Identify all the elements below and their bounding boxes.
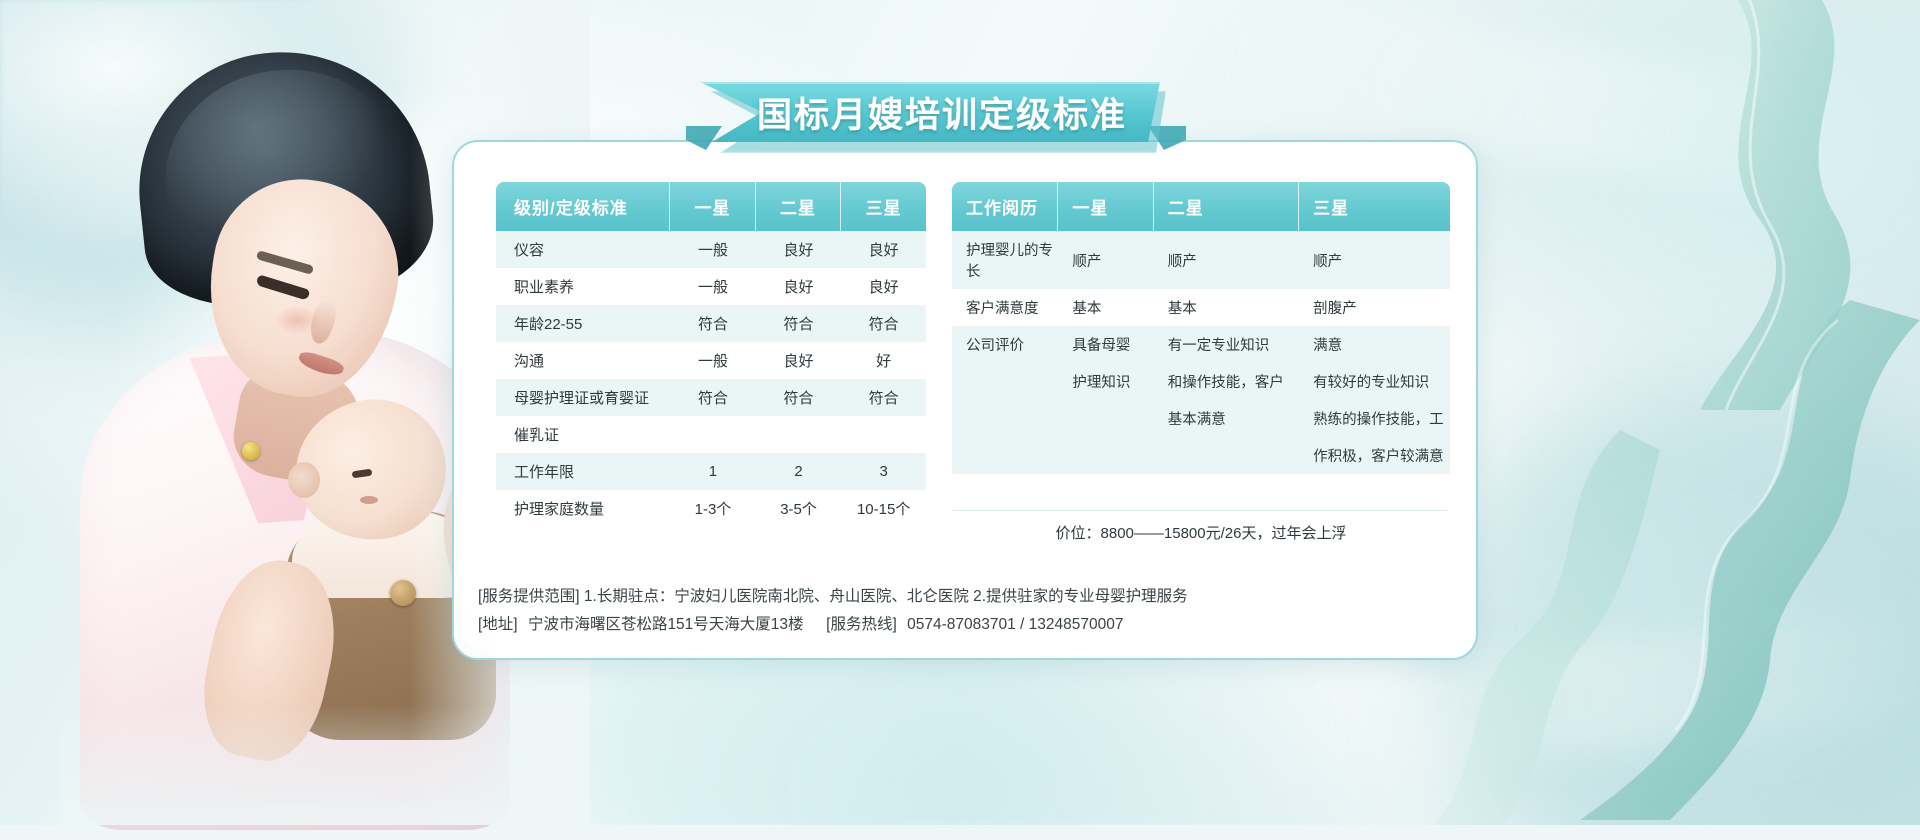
cell-three-star: 剖腹产 — [1299, 289, 1450, 326]
cell-two-star: 符合 — [756, 305, 842, 342]
address-value: 宁波市海曙区苍松路151号天海大厦13楼 — [528, 616, 804, 633]
table-header-row: 级别/定级标准 一星 二星 三星 — [496, 182, 926, 231]
row-label: 公司评价 — [952, 326, 1058, 363]
price-note: 价位：8800——15800元/26天，过年会上浮 — [952, 522, 1450, 543]
cell-three-star: 符合 — [841, 305, 926, 342]
photo-baby-ear — [288, 462, 320, 498]
cell-three-star: 满意 — [1299, 326, 1450, 363]
row-label-empty — [952, 400, 1058, 437]
cell-three-star: 10-15个 — [841, 490, 926, 527]
work-experience-table: 工作阅历 一星 二星 三星 护理婴儿的专长 顺产 顺产 顺产 客户满意度 基本 … — [952, 182, 1450, 474]
cell-one-star: 1-3个 — [670, 490, 756, 527]
row-label: 年龄22-55 — [496, 305, 670, 342]
row-label: 职业素养 — [496, 268, 670, 305]
cell-two-star: 有一定专业知识 — [1154, 326, 1299, 363]
cell-one-star: 符合 — [670, 379, 756, 416]
title-banner: 国标月嫂培训定级标准 — [700, 82, 1170, 156]
table-row: 年龄22-55 符合 符合 符合 — [496, 305, 926, 342]
cell-one-star: 一般 — [670, 268, 756, 305]
cell-two-star: 2 — [756, 453, 842, 490]
cell-three-star-line3: 熟练的操作技能，工 — [1299, 400, 1450, 437]
cell-two-star-line2: 和操作技能，客户 — [1154, 363, 1299, 400]
cell-three-star: 良好 — [841, 268, 926, 305]
cell-one-star: 1 — [670, 453, 756, 490]
table-row: 沟通 一般 良好 好 — [496, 342, 926, 379]
col-header-experience: 工作阅历 — [952, 182, 1058, 231]
row-label: 催乳证 — [496, 416, 670, 453]
address-hotline-line: [地址] 宁波市海曙区苍松路151号天海大厦13楼 [服务热线] 0574-87… — [478, 612, 1123, 634]
photo-nurse-badge-pin — [242, 442, 260, 460]
cell-three-star: 3 — [841, 453, 926, 490]
row-label: 护理婴儿的专长 — [952, 231, 1058, 289]
cell-three-star: 符合 — [841, 379, 926, 416]
service-scope-line: [服务提供范围] 1.长期驻点：宁波妇儿医院南北院、舟山医院、北仑医院 2.提供… — [478, 584, 1188, 606]
page-title: 国标月嫂培训定级标准 — [700, 82, 1160, 142]
hotline-value[interactable]: 0574-87083701 / 13248570007 — [907, 616, 1123, 633]
cell-two-star: 良好 — [756, 268, 842, 305]
cell-two-star-line3: 基本满意 — [1154, 400, 1299, 437]
col-header-one-star: 一星 — [1058, 182, 1153, 231]
cell-three-star: 良好 — [841, 231, 926, 268]
cell-three-star-line4: 作积极，客户较满意 — [1299, 437, 1450, 474]
cell-one-star: 具备母婴 — [1058, 326, 1153, 363]
cell-three-star: 好 — [841, 342, 926, 379]
row-label: 母婴护理证或育婴证 — [496, 379, 670, 416]
table-row: 护理婴儿的专长 顺产 顺产 顺产 — [952, 231, 1450, 289]
cell-two-star: 3-5个 — [756, 490, 842, 527]
table-row: 催乳证 — [496, 416, 926, 453]
cell-two-star: 符合 — [756, 379, 842, 416]
price-divider — [952, 510, 1448, 511]
table-row: 仪容 一般 良好 良好 — [496, 231, 926, 268]
col-header-criteria: 级别/定级标准 — [496, 182, 670, 231]
table-row: 职业素养 一般 良好 良好 — [496, 268, 926, 305]
row-label: 仪容 — [496, 231, 670, 268]
cell-one-star — [670, 416, 756, 453]
row-label: 沟通 — [496, 342, 670, 379]
row-label: 护理家庭数量 — [496, 490, 670, 527]
table-row: 公司评价 具备母婴 有一定专业知识 满意 — [952, 326, 1450, 363]
cell-one-star: 一般 — [670, 342, 756, 379]
row-label-empty — [952, 363, 1058, 400]
cell-one-star-line2: 护理知识 — [1058, 363, 1153, 400]
table-row-cont: 作积极，客户较满意 — [952, 437, 1450, 474]
col-header-two-star: 二星 — [1154, 182, 1299, 231]
cell-one-star-line3 — [1058, 400, 1153, 437]
hotline-label: [服务热线] — [826, 616, 897, 633]
cell-three-star — [841, 416, 926, 453]
cell-one-star: 一般 — [670, 231, 756, 268]
table-header-row: 工作阅历 一星 二星 三星 — [952, 182, 1450, 231]
cell-one-star: 基本 — [1058, 289, 1153, 326]
table-row: 母婴护理证或育婴证 符合 符合 符合 — [496, 379, 926, 416]
table-row: 客户满意度 基本 基本 剖腹产 — [952, 289, 1450, 326]
cell-three-star-line2: 有较好的专业知识 — [1299, 363, 1450, 400]
row-label: 客户满意度 — [952, 289, 1058, 326]
col-header-three-star: 三星 — [841, 182, 926, 231]
table-row: 护理家庭数量 1-3个 3-5个 10-15个 — [496, 490, 926, 527]
cell-two-star: 良好 — [756, 342, 842, 379]
cell-one-star: 符合 — [670, 305, 756, 342]
cell-three-star: 顺产 — [1299, 231, 1450, 289]
table-row-cont: 护理知识 和操作技能，客户 有较好的专业知识 — [952, 363, 1450, 400]
col-header-two-star: 二星 — [756, 182, 842, 231]
cell-two-star: 顺产 — [1154, 231, 1299, 289]
photo-bottom-fade — [60, 705, 580, 825]
cell-two-star — [756, 416, 842, 453]
row-label-empty — [952, 437, 1058, 474]
cell-two-star-line4 — [1154, 437, 1299, 474]
table-row: 工作年限 1 2 3 — [496, 453, 926, 490]
cell-one-star-line4 — [1058, 437, 1153, 474]
grading-standard-table: 级别/定级标准 一星 二星 三星 仪容 一般 良好 良好 职业素养 一般 良好 … — [496, 182, 926, 527]
photo-baby-mouth — [360, 496, 378, 504]
cell-two-star: 良好 — [756, 231, 842, 268]
row-label: 工作年限 — [496, 453, 670, 490]
cell-two-star: 基本 — [1154, 289, 1299, 326]
address-label: [地址] — [478, 616, 518, 633]
col-header-three-star: 三星 — [1299, 182, 1450, 231]
col-header-one-star: 一星 — [670, 182, 756, 231]
cell-one-star: 顺产 — [1058, 231, 1153, 289]
table-row-cont: 基本满意 熟练的操作技能，工 — [952, 400, 1450, 437]
